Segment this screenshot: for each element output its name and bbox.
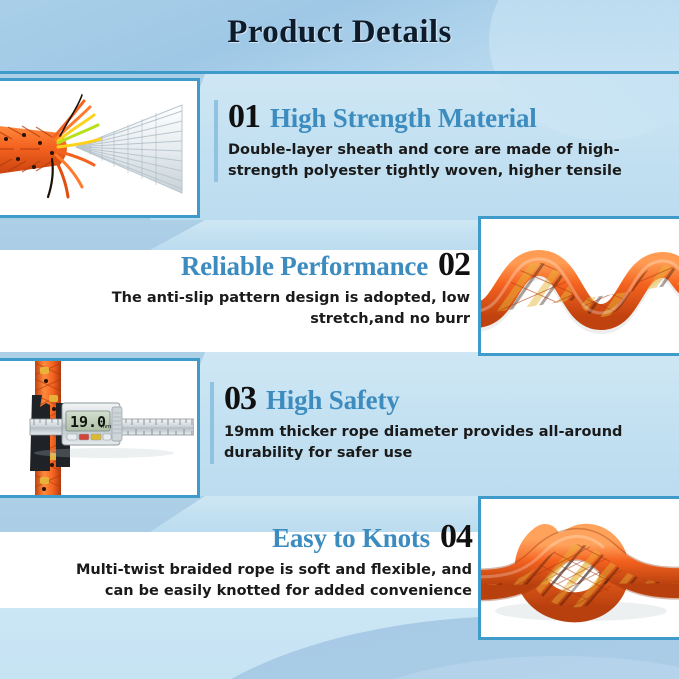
caliper-measuring-rope-photo: 19.0 mm xyxy=(0,361,197,495)
feature-title-1: High Strength Material xyxy=(270,104,537,132)
feature-heading-row-4: Easy to Knots 04 xyxy=(58,520,472,554)
feature-body-1: Double-layer sheath and core are made of… xyxy=(228,140,679,182)
svg-text:mm: mm xyxy=(101,424,112,430)
feature-text-2: Reliable Performance 02 The anti-slip pa… xyxy=(110,248,470,330)
feature-image-panel-2 xyxy=(478,216,679,356)
feature-text-4: Easy to Knots 04 Multi-twist braided rop… xyxy=(58,520,472,602)
product-details-infographic: Product Details xyxy=(0,0,679,679)
wavy-rope-photo xyxy=(481,219,679,353)
knotted-rope-photo xyxy=(481,499,679,637)
feature-heading-row-3: 03 High Safety xyxy=(224,382,654,416)
feature-title-4: Easy to Knots xyxy=(272,524,430,552)
feature-title-2: Reliable Performance xyxy=(181,252,428,280)
feature-body-4: Multi-twist braided rope is soft and fle… xyxy=(58,560,472,602)
feature-number-1: 01 xyxy=(228,100,260,134)
rope-cutaway-photo xyxy=(0,81,197,215)
feature-title-3: High Safety xyxy=(266,386,400,414)
feature-heading-row-1: 01 High Strength Material xyxy=(228,100,679,134)
feature-image-panel-1 xyxy=(0,78,200,218)
feature-text-3: 03 High Safety 19mm thicker rope diamete… xyxy=(210,382,654,464)
feature-number-4: 04 xyxy=(440,520,472,554)
feature-body-3: 19mm thicker rope diameter provides all-… xyxy=(224,422,654,464)
background-wedge xyxy=(0,220,260,250)
feature-image-panel-3: 19.0 mm xyxy=(0,358,200,498)
feature-text-1: 01 High Strength Material Double-layer s… xyxy=(214,100,679,182)
feature-number-3: 03 xyxy=(224,382,256,416)
feature-body-2: The anti-slip pattern design is adopted,… xyxy=(110,288,470,330)
feature-number-2: 02 xyxy=(438,248,470,282)
page-title: Product Details xyxy=(0,14,679,51)
feature-heading-row-2: Reliable Performance 02 xyxy=(110,248,470,282)
feature-image-panel-4 xyxy=(478,496,679,640)
